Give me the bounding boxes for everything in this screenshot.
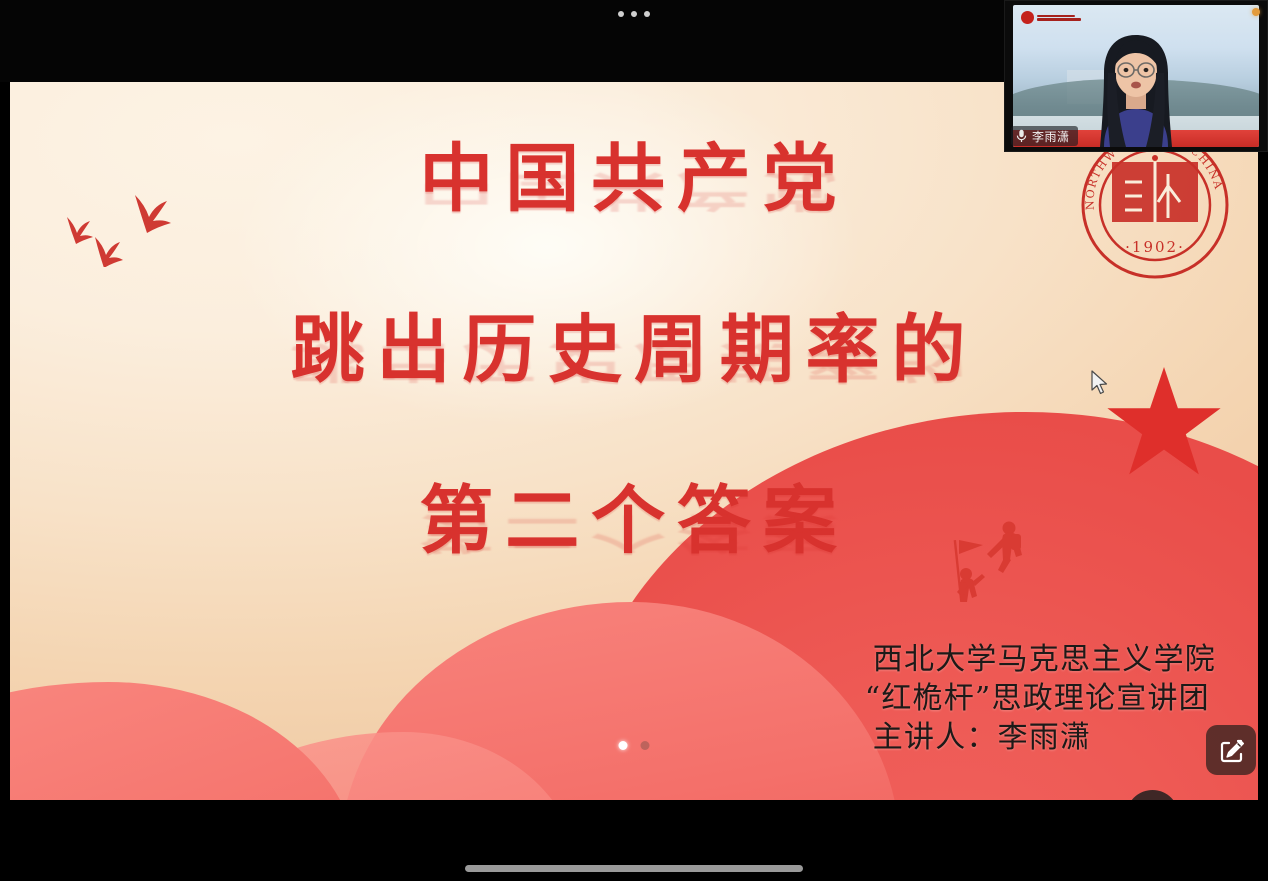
logo-seal-icon [1021,11,1034,24]
home-indicator[interactable] [465,865,803,872]
presenter-affiliation: 西北大学马克思主义学院 [873,640,1216,679]
bottom-bar [0,800,1268,881]
svg-text:·1902·: ·1902· [1125,238,1185,256]
logo-line [1037,15,1075,18]
slide-title-line-3-reflection: 第二个答案 [10,511,1258,554]
slide-title-line-2-reflection: 跳出历史周期率的 [10,340,1258,383]
overflow-menu-button[interactable] [612,7,656,21]
slide-title-line-2: 跳出历史周期率的 [10,311,1258,389]
slide-page-indicator[interactable] [619,741,650,750]
menu-dot [618,11,624,17]
presenter-team: “红桅杆”思政理论宣讲团 [865,679,1216,718]
participant-name-badge: 李雨潇 [1011,126,1078,146]
participant-name-label: 李雨潇 [1032,128,1070,145]
presenter-credit-block: 西北大学马克思主义学院 “红桅杆”思政理论宣讲团 主讲人：李雨潇 [873,640,1216,757]
climbers-illustration [935,512,1065,627]
menu-dot [631,11,637,17]
annotate-button[interactable] [1206,725,1256,775]
mountain-far [160,732,580,800]
page-dot-active[interactable] [619,741,628,750]
annotate-pen-icon [1218,737,1245,764]
shared-slide-stage[interactable]: ·1902· NORTHWEST CHINA 中国共产党 中国共产党 跳出历史周… [10,82,1258,800]
mountain-left [10,682,360,800]
mountain-mid [340,602,900,800]
university-seal-logo: ·1902· NORTHWEST CHINA [1080,130,1230,280]
logo-line [1037,18,1081,21]
red-star-icon [1105,367,1223,485]
slide-glow [110,82,984,498]
slide-title-line-3: 第二个答案 [10,482,1258,560]
presenter-speaker: 主讲人：李雨潇 [873,718,1216,757]
screen-root: ·1902· NORTHWEST CHINA 中国共产党 中国共产党 跳出历史周… [0,0,1268,881]
participant-video-tile[interactable]: 李雨潇 [1004,0,1268,152]
logo-wordmark [1037,15,1081,21]
recording-status-dot [1252,8,1260,16]
flying-birds-icon [35,187,205,267]
microphone-icon [1016,129,1027,143]
page-dot-inactive[interactable] [641,741,650,750]
menu-dot [644,11,650,17]
video-overlay-logo [1021,11,1081,24]
participant-silhouette [1074,29,1198,147]
